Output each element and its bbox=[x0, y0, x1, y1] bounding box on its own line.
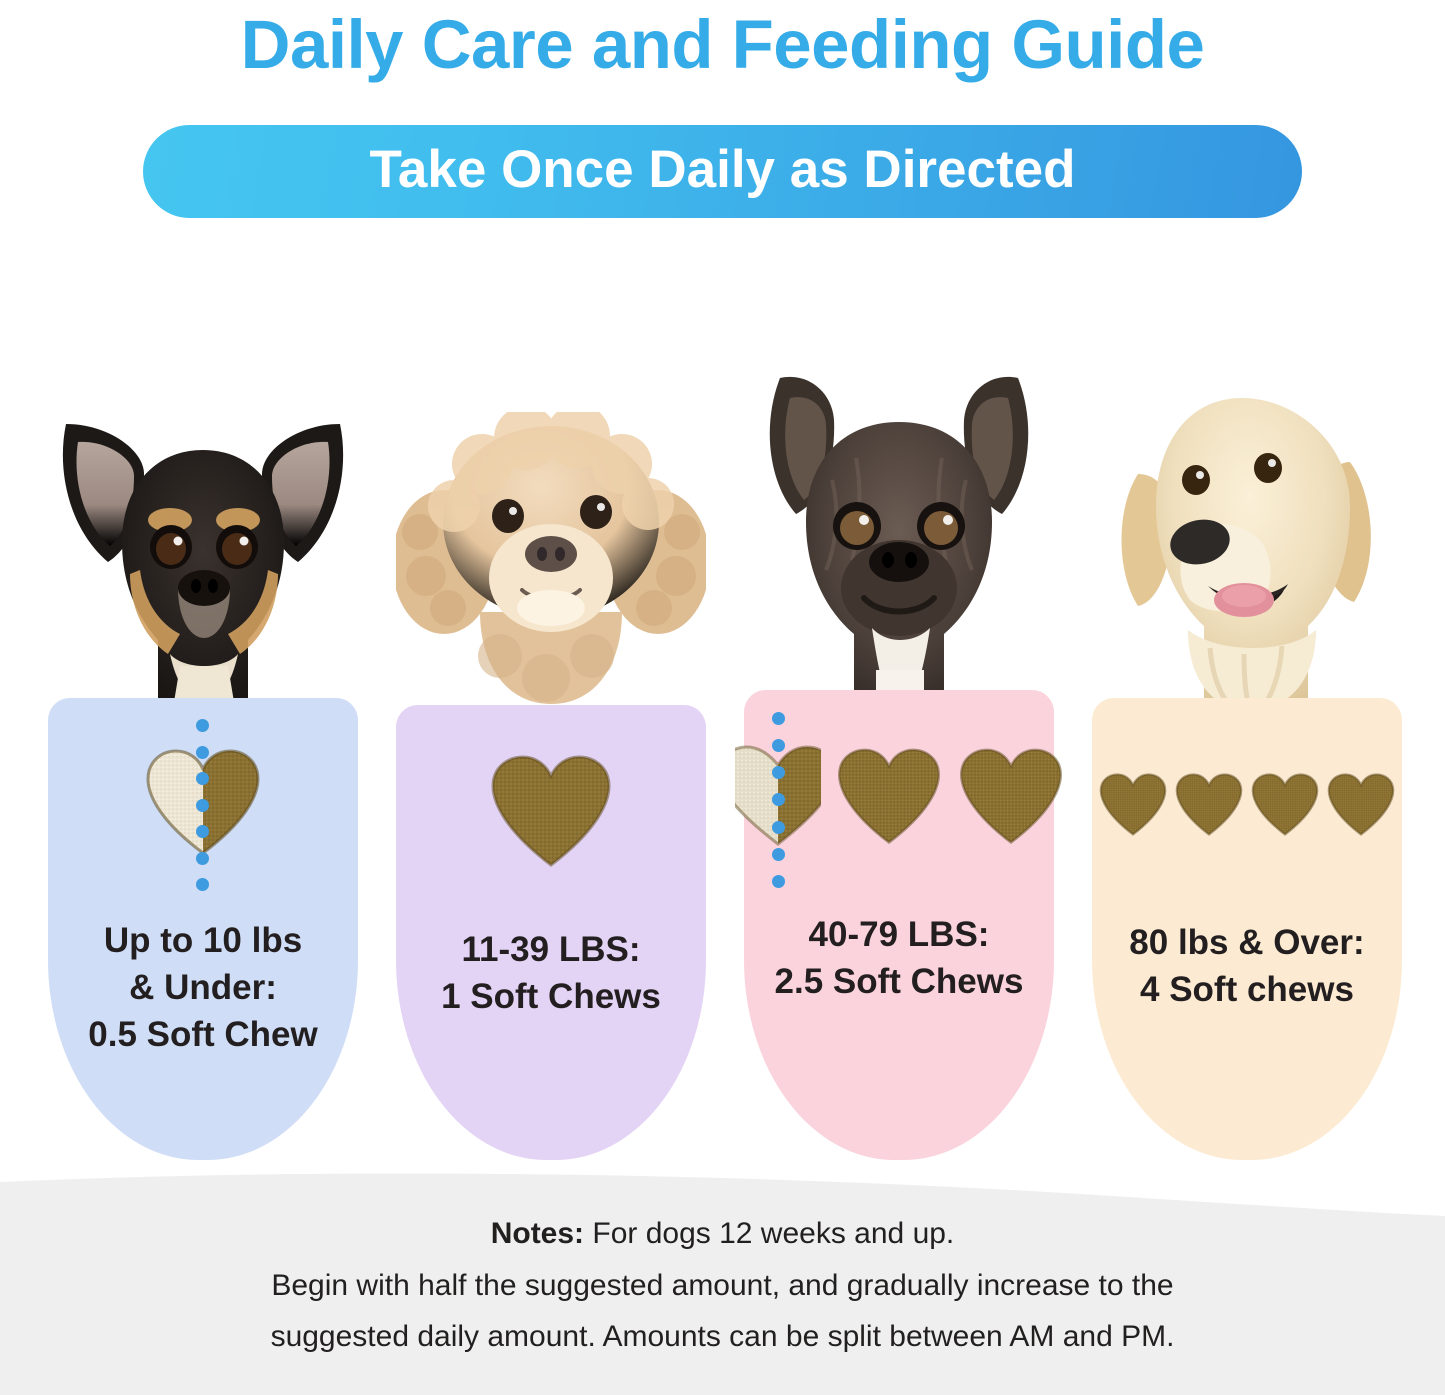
dog-photo-poodle bbox=[396, 412, 706, 704]
dosage-label-40-79-lbs: 40-79 LBS: 2.5 Soft Chews bbox=[744, 912, 1054, 1006]
directions-pill: Take Once Daily as Directed bbox=[143, 125, 1302, 218]
dosage-card-40-79-lbs: 40-79 LBS: 2.5 Soft Chews bbox=[744, 340, 1054, 1160]
dosage-label-11-39-lbs: 11-39 LBS: 1 Soft Chews bbox=[396, 927, 706, 1021]
dosage-label-up-to-10-lbs: Up to 10 lbs & Under: 0.5 Soft Chew bbox=[48, 918, 358, 1059]
notes-label: Notes: bbox=[491, 1217, 584, 1250]
cut-line-dots bbox=[196, 719, 209, 891]
full-soft-chew bbox=[1250, 770, 1320, 840]
chew-illustration-11-39-lbs bbox=[396, 747, 706, 877]
half-soft-chew bbox=[144, 747, 262, 859]
dosage-card-80-lbs-and-over: 80 lbs & Over: 4 Soft chews bbox=[1092, 340, 1402, 1160]
notes-line-1: Notes: For dogs 12 weeks and up. bbox=[0, 1208, 1445, 1260]
full-soft-chew bbox=[488, 753, 614, 871]
directions-pill-label: Take Once Daily as Directed bbox=[369, 143, 1075, 200]
feeding-guide-infographic: Daily Care and Feeding Guide Take Once D… bbox=[0, 0, 1445, 1395]
dosage-card-up-to-10-lbs: Up to 10 lbs & Under: 0.5 Soft Chew bbox=[48, 340, 358, 1160]
dosage-card-11-39-lbs: 11-39 LBS: 1 Soft Chews bbox=[396, 340, 706, 1160]
dosage-panel-11-39-lbs: 11-39 LBS: 1 Soft Chews bbox=[396, 705, 706, 1160]
full-soft-chew bbox=[1098, 770, 1168, 840]
dosage-cards-row: Up to 10 lbs & Under: 0.5 Soft Chew bbox=[0, 290, 1445, 1160]
dog-photo-french-bulldog bbox=[744, 350, 1054, 710]
dosage-label-80-lbs-and-over: 80 lbs & Over: 4 Soft chews bbox=[1092, 920, 1402, 1014]
half-soft-chew bbox=[735, 744, 821, 850]
page-title: Daily Care and Feeding Guide bbox=[0, 6, 1445, 83]
full-soft-chew bbox=[957, 745, 1065, 849]
notes-band: Notes: For dogs 12 weeks and up. Begin w… bbox=[0, 1160, 1445, 1395]
notes-line-2: Begin with half the suggested amount, an… bbox=[0, 1260, 1445, 1312]
full-soft-chew bbox=[1174, 770, 1244, 840]
cut-line-dots bbox=[772, 712, 785, 888]
dog-photo-golden-retriever bbox=[1092, 358, 1402, 710]
dosage-panel-80-lbs-and-over: 80 lbs & Over: 4 Soft chews bbox=[1092, 698, 1402, 1160]
notes-line-3: suggested daily amount. Amounts can be s… bbox=[0, 1311, 1445, 1363]
full-soft-chew bbox=[835, 745, 943, 849]
notes-text: Notes: For dogs 12 weeks and up. Begin w… bbox=[0, 1208, 1445, 1363]
chew-illustration-40-79-lbs bbox=[744, 732, 1054, 862]
chew-illustration-80-lbs-and-over bbox=[1092, 750, 1402, 860]
full-soft-chew bbox=[1326, 770, 1396, 840]
notes-line-1-rest: For dogs 12 weeks and up. bbox=[584, 1217, 954, 1250]
dog-photo-chihuahua bbox=[48, 402, 358, 702]
chew-illustration-up-to-10-lbs bbox=[48, 738, 358, 868]
dosage-panel-up-to-10-lbs: Up to 10 lbs & Under: 0.5 Soft Chew bbox=[48, 698, 358, 1160]
dosage-panel-40-79-lbs: 40-79 LBS: 2.5 Soft Chews bbox=[744, 690, 1054, 1160]
